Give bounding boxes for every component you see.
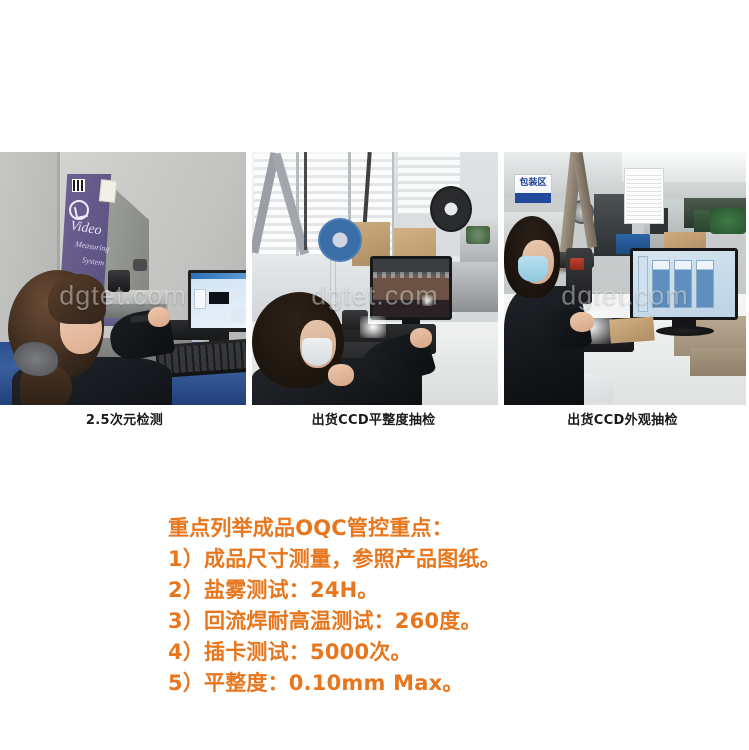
adjust-knob [133, 259, 147, 271]
spec-label-sticker [99, 179, 117, 203]
screen-part-1 [652, 260, 670, 308]
area-sign-blue-bar [515, 193, 551, 203]
brand-logo-icon [69, 200, 89, 220]
ccd-monitor-screen [373, 259, 449, 317]
note-item-4: 4）插卡测试：5000次。 [168, 637, 628, 668]
operator-hand [570, 312, 594, 332]
note-item-3: 3）回流焊耐高温测试：260度。 [168, 606, 628, 637]
green-material-pile [710, 208, 746, 234]
screen-panel-left [194, 289, 206, 309]
floor-area-front [690, 348, 746, 376]
document-lines [626, 172, 662, 220]
operator-hand-right [410, 328, 432, 348]
optical-lens [108, 270, 130, 292]
inspection-light [360, 316, 386, 338]
operator-hand [148, 307, 170, 327]
note-item-2: 2）盐雾测试：24H。 [168, 575, 628, 606]
photo-strip: Video Measuring System [0, 152, 749, 405]
cardboard-parts-tray [609, 316, 655, 343]
face-mask [302, 338, 332, 366]
screen-part-2 [674, 260, 692, 308]
photo-captions-row: 2.5次元检测 出货CCD平整度抽检 出货CCD外观抽检 [0, 409, 749, 428]
caption-ccd-flatness: 出货CCD平整度抽检 [249, 409, 498, 428]
component-reel-blue [318, 218, 362, 262]
photo-2-5d-measuring: Video Measuring System [0, 152, 246, 405]
screen-panel-right [231, 307, 245, 323]
note-item-1: 1）成品尺寸测量，参照产品图纸。 [168, 544, 628, 575]
screen-part-3 [696, 260, 714, 308]
screen-camera-view [209, 292, 229, 304]
operator-hand-left [328, 364, 354, 386]
face-mask [518, 256, 548, 282]
monitor-base [656, 326, 714, 336]
operator-hair-front [48, 274, 106, 324]
area-sign-label: 包装区 [516, 177, 550, 189]
screen-part-frame [638, 256, 648, 312]
note-item-5: 5）平整度：0.10mm Max。 [168, 668, 628, 699]
machine-detail [466, 226, 490, 244]
oqc-notes-block: 重点列举成品OQC管控重点： 1）成品尺寸测量，参照产品图纸。 2）盐雾测试：2… [168, 512, 628, 699]
caption-2-5d-measuring: 2.5次元检测 [0, 409, 249, 428]
screen-part-edge [373, 272, 449, 278]
component-reel-dark [430, 186, 472, 232]
photo-ccd-flatness: dgtet.com [252, 152, 498, 405]
microscope-red-marker [570, 258, 584, 270]
qr-code-sticker [72, 179, 85, 192]
caption-ccd-appearance: 出货CCD外观抽检 [498, 409, 747, 428]
hanging-cable-1 [304, 152, 307, 250]
notes-title: 重点列举成品OQC管控重点： [168, 512, 628, 544]
screen-glare [422, 295, 433, 306]
photo-ccd-appearance: 包装区 dgte [504, 152, 746, 405]
screen-titlebar [191, 273, 246, 279]
slide-page: Video Measuring System [0, 0, 749, 750]
